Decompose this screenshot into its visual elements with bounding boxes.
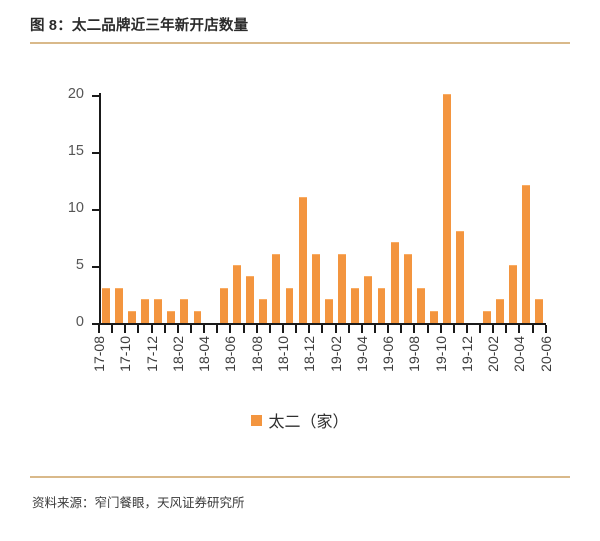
chart-legend: 太二（家） — [0, 408, 600, 432]
source-note: 资料来源：窄门餐眼，天风证券研究所 — [32, 492, 245, 511]
page-title: 图 8：太二品牌近三年新开店数量 — [30, 14, 248, 35]
x-axis-tick-slot — [395, 325, 408, 333]
x-axis-label-slot: 17-12 — [145, 334, 158, 404]
bar[interactable] — [443, 94, 451, 323]
x-axis-tick — [295, 325, 297, 333]
bar-slot — [138, 95, 151, 323]
bar[interactable] — [351, 288, 359, 323]
bar-slot — [336, 95, 349, 323]
x-axis-tick-slot — [447, 325, 460, 333]
bar[interactable] — [233, 265, 241, 323]
y-axis-tick — [92, 266, 100, 268]
x-axis-tick — [98, 325, 100, 333]
x-axis-tick-slot — [434, 325, 447, 333]
x-axis-tick — [440, 325, 442, 333]
x-axis-tick — [256, 325, 258, 333]
x-axis-tick — [427, 325, 429, 333]
bar[interactable] — [220, 288, 228, 323]
bar-slot — [309, 95, 322, 323]
x-axis-label-slot — [132, 334, 145, 404]
x-axis-tick-slot — [474, 325, 487, 333]
bar[interactable] — [180, 299, 188, 323]
bar-slot — [414, 95, 427, 323]
x-axis-label-slot: 20-06 — [539, 334, 552, 404]
y-axis-labels: 05101520 — [44, 60, 84, 360]
bar-slot — [454, 95, 467, 323]
x-axis-label-slot: 17-10 — [119, 334, 132, 404]
x-axis-labels: 17-0817-1017-1218-0218-0418-0618-0818-10… — [92, 334, 552, 404]
bar-slot — [230, 95, 243, 323]
bar[interactable] — [496, 299, 504, 323]
bar[interactable] — [364, 276, 372, 323]
x-axis-tick — [545, 325, 547, 333]
bar-slot — [533, 95, 546, 323]
bar[interactable] — [391, 242, 399, 323]
bar[interactable] — [154, 299, 162, 323]
bar[interactable] — [259, 299, 267, 323]
bar-slot — [388, 95, 401, 323]
x-axis-tick-slot — [526, 325, 539, 333]
x-axis-tick — [321, 325, 323, 333]
bar[interactable] — [167, 311, 175, 323]
bar[interactable] — [141, 299, 149, 323]
x-axis-label-slot — [316, 334, 329, 404]
x-axis-tick-slot — [106, 325, 119, 333]
x-axis-label-slot: 18-04 — [198, 334, 211, 404]
y-axis-tick-label: 10 — [48, 200, 84, 216]
x-axis-tick-slot — [316, 325, 329, 333]
x-axis-tick — [203, 325, 205, 333]
x-axis-tick-slot — [460, 325, 473, 333]
bar-slot — [178, 95, 191, 323]
bar-slot — [520, 95, 533, 323]
bar-slot — [257, 95, 270, 323]
x-axis-tick-slot — [250, 325, 263, 333]
x-axis-tick — [151, 325, 153, 333]
x-axis-tick-slot — [237, 325, 250, 333]
x-axis-label-slot: 19-08 — [408, 334, 421, 404]
bar[interactable] — [325, 299, 333, 323]
chart-area: 05101520 17-0817-1017-1218-0218-0418-061… — [0, 60, 600, 460]
x-axis-tick-slot — [171, 325, 184, 333]
bar-slot — [152, 95, 165, 323]
x-axis-tick — [124, 325, 126, 333]
x-axis-tick — [308, 325, 310, 333]
bar[interactable] — [430, 311, 438, 323]
x-axis-tick-slot — [132, 325, 145, 333]
x-axis-tick-slot — [303, 325, 316, 333]
y-axis-tick-label: 0 — [48, 314, 84, 330]
x-axis-tick — [532, 325, 534, 333]
bar[interactable] — [483, 311, 491, 323]
bar-slot — [506, 95, 519, 323]
legend-swatch-icon — [251, 415, 262, 426]
bar[interactable] — [299, 197, 307, 323]
x-axis-tick — [505, 325, 507, 333]
bar-slot — [296, 95, 309, 323]
figure-panel: 图 8：太二品牌近三年新开店数量 05101520 17-0817-1017-1… — [0, 0, 600, 541]
x-axis-tick — [479, 325, 481, 333]
x-axis-tick-slot — [290, 325, 303, 333]
x-axis-tick-slot — [145, 325, 158, 333]
x-axis-tick-slot — [500, 325, 513, 333]
bar-slot — [270, 95, 283, 323]
x-axis-label-slot: 18-02 — [171, 334, 184, 404]
x-axis-tick-slot — [408, 325, 421, 333]
x-axis-tick — [413, 325, 415, 333]
x-axis-tick — [374, 325, 376, 333]
bar-slot — [217, 95, 230, 323]
y-axis-tick — [92, 209, 100, 211]
x-axis-tick — [177, 325, 179, 333]
y-axis-tick-label: 15 — [48, 143, 84, 159]
x-axis-tick-slot — [92, 325, 105, 333]
x-axis-tick — [518, 325, 520, 333]
x-axis-label-slot: 19-12 — [460, 334, 473, 404]
bar-slot — [165, 95, 178, 323]
bar-slot — [349, 95, 362, 323]
bar-slot — [322, 95, 335, 323]
bar[interactable] — [509, 265, 517, 323]
x-axis-tick — [335, 325, 337, 333]
bar[interactable] — [417, 288, 425, 323]
x-axis-label-slot: 17-08 — [92, 334, 105, 404]
bar[interactable] — [312, 254, 320, 323]
bar-slot — [480, 95, 493, 323]
x-axis-tick — [111, 325, 113, 333]
x-axis-tick — [269, 325, 271, 333]
x-axis-tick-slot — [539, 325, 552, 333]
bar[interactable] — [338, 254, 346, 323]
x-axis-tick-slot — [198, 325, 211, 333]
bar[interactable] — [115, 288, 123, 323]
bar-slot — [401, 95, 414, 323]
x-axis-tick-slot — [513, 325, 526, 333]
y-axis-tick-label: 20 — [48, 86, 84, 102]
bar-slot — [428, 95, 441, 323]
bar[interactable] — [535, 299, 543, 323]
bar-slot — [204, 95, 217, 323]
x-axis-tick-slot — [355, 325, 368, 333]
bar-slot — [283, 95, 296, 323]
x-axis-label-slot: 20-02 — [487, 334, 500, 404]
x-axis-ticks — [92, 325, 552, 333]
bar[interactable] — [456, 231, 464, 323]
divider-top — [30, 42, 570, 44]
x-axis-tick — [282, 325, 284, 333]
bar-slot — [467, 95, 480, 323]
x-axis-label-slot: 18-06 — [224, 334, 237, 404]
bar[interactable] — [102, 288, 110, 323]
x-axis-tick-slot — [421, 325, 434, 333]
bar[interactable] — [378, 288, 386, 323]
x-axis-tick-slot — [368, 325, 381, 333]
bar-series — [99, 95, 546, 323]
x-axis-label-slot: 19-10 — [434, 334, 447, 404]
x-axis-tick-label: 20-06 — [538, 336, 554, 372]
x-axis-tick-slot — [382, 325, 395, 333]
x-axis-label-slot: 18-08 — [250, 334, 263, 404]
x-axis-tick-slot — [224, 325, 237, 333]
x-axis-tick-slot — [329, 325, 342, 333]
x-axis-tick-slot — [342, 325, 355, 333]
y-axis-tick-label: 5 — [48, 257, 84, 273]
bar[interactable] — [522, 185, 530, 323]
legend-label: 太二（家） — [268, 408, 348, 432]
x-axis-tick — [137, 325, 139, 333]
bar-slot — [244, 95, 257, 323]
bar[interactable] — [246, 276, 254, 323]
y-axis-tick — [92, 95, 100, 97]
x-axis-tick — [466, 325, 468, 333]
bar-slot — [191, 95, 204, 323]
x-axis-tick-slot — [263, 325, 276, 333]
bar[interactable] — [194, 311, 202, 323]
y-axis-tick — [92, 152, 100, 154]
x-axis-tick-slot — [158, 325, 171, 333]
x-axis-label-slot: 19-06 — [382, 334, 395, 404]
x-axis-label-slot: 18-12 — [303, 334, 316, 404]
x-axis-tick — [400, 325, 402, 333]
x-axis-tick — [216, 325, 218, 333]
x-axis-tick — [361, 325, 363, 333]
x-axis-tick-slot — [184, 325, 197, 333]
x-axis-label-slot: 19-04 — [355, 334, 368, 404]
x-axis-tick-slot — [276, 325, 289, 333]
divider-bottom — [30, 476, 570, 478]
x-axis-tick — [492, 325, 494, 333]
bar-slot — [125, 95, 138, 323]
bar-slot — [493, 95, 506, 323]
bar-slot — [362, 95, 375, 323]
x-axis-tick-slot — [487, 325, 500, 333]
x-axis-tick-slot — [211, 325, 224, 333]
x-axis-label-slot: 18-10 — [276, 334, 289, 404]
x-axis-tick — [387, 325, 389, 333]
bar-slot — [441, 95, 454, 323]
x-axis-tick — [164, 325, 166, 333]
x-axis-tick — [348, 325, 350, 333]
x-axis-label-slot: 19-02 — [329, 334, 342, 404]
y-axis-tick — [92, 323, 100, 325]
x-axis-tick — [453, 325, 455, 333]
bar-slot — [112, 95, 125, 323]
bar-slot — [99, 95, 112, 323]
x-axis-tick-slot — [119, 325, 132, 333]
x-axis-tick — [243, 325, 245, 333]
bar[interactable] — [286, 288, 294, 323]
bar[interactable] — [404, 254, 412, 323]
x-axis-tick — [229, 325, 231, 333]
x-axis-label-slot: 20-04 — [513, 334, 526, 404]
bar[interactable] — [272, 254, 280, 323]
x-axis-tick — [190, 325, 192, 333]
bar[interactable] — [128, 311, 136, 323]
bar-slot — [375, 95, 388, 323]
